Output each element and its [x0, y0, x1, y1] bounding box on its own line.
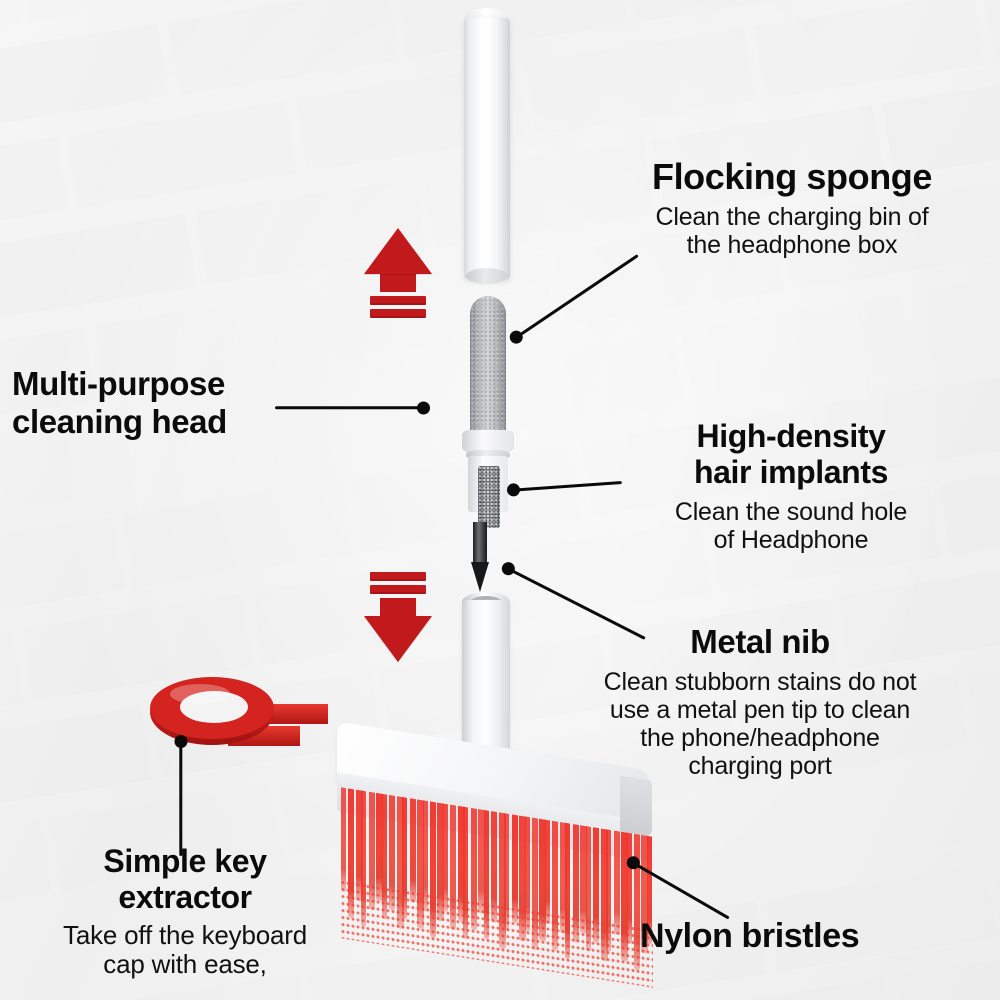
callout-desc-metal-nib-line1: Clean stubborn stains do not	[540, 668, 980, 696]
brush-head-side	[620, 775, 652, 836]
callout-high-density-hair-implants: High-density hair implants Clean the sou…	[600, 420, 982, 554]
metal-nib-shaft	[473, 522, 487, 566]
callout-title-key-extractor-line2: extractor	[20, 881, 350, 915]
key-extractor-svg	[140, 660, 340, 770]
callout-title-hair-implants-line2: hair implants	[600, 456, 982, 490]
callout-flocking-sponge: Flocking sponge Clean the charging bin o…	[596, 158, 988, 259]
callout-title-multi-purpose-line1: Multi-purpose	[12, 367, 302, 402]
flocking-sponge-part	[470, 296, 506, 436]
callout-title-flocking-sponge: Flocking sponge	[596, 158, 988, 196]
callout-nylon-bristles: Nylon bristles	[640, 918, 990, 954]
callout-desc-hair-implants-line2: of Headphone	[600, 526, 982, 554]
infographic-canvas: Flocking sponge Clean the charging bin o…	[0, 0, 1000, 1000]
callout-desc-key-extractor-line2: cap with ease,	[20, 950, 350, 979]
callout-title-hair-implants-line1: High-density	[600, 420, 982, 454]
pen-cap-body	[464, 18, 510, 280]
callout-desc-hair-implants-line1: Clean the sound hole	[600, 498, 982, 526]
arrow-down-icon	[362, 568, 434, 662]
callout-title-nylon-bristles: Nylon bristles	[640, 918, 990, 954]
pen-cap-rim	[466, 268, 508, 284]
callout-title-metal-nib: Metal nib	[540, 625, 980, 660]
hair-implant-brush-part	[478, 466, 500, 528]
callout-desc-metal-nib-line2: use a metal pen tip to clean	[540, 696, 980, 724]
callout-metal-nib: Metal nib Clean stubborn stains do not u…	[540, 625, 980, 780]
callout-title-multi-purpose-line2: cleaning head	[12, 405, 302, 440]
callout-title-key-extractor-line1: Simple key	[20, 845, 350, 879]
arrow-up-icon	[362, 228, 434, 318]
callout-multi-purpose-cleaning-head: Multi-purpose cleaning head	[12, 367, 302, 440]
pen-collar-upper	[462, 430, 514, 452]
metal-nib-point	[471, 562, 489, 592]
callout-desc-metal-nib-line3: the phone/headphone	[540, 724, 980, 752]
callout-desc-key-extractor-line1: Take off the keyboard	[20, 921, 350, 950]
key-extractor-part	[140, 660, 340, 770]
callout-desc-metal-nib-line4: charging port	[540, 752, 980, 780]
callout-desc-flocking-sponge-line1: Clean the charging bin of	[596, 203, 988, 231]
callout-simple-key-extractor: Simple key extractor Take off the keyboa…	[20, 845, 350, 979]
callout-desc-flocking-sponge-line2: the headphone box	[596, 231, 988, 259]
